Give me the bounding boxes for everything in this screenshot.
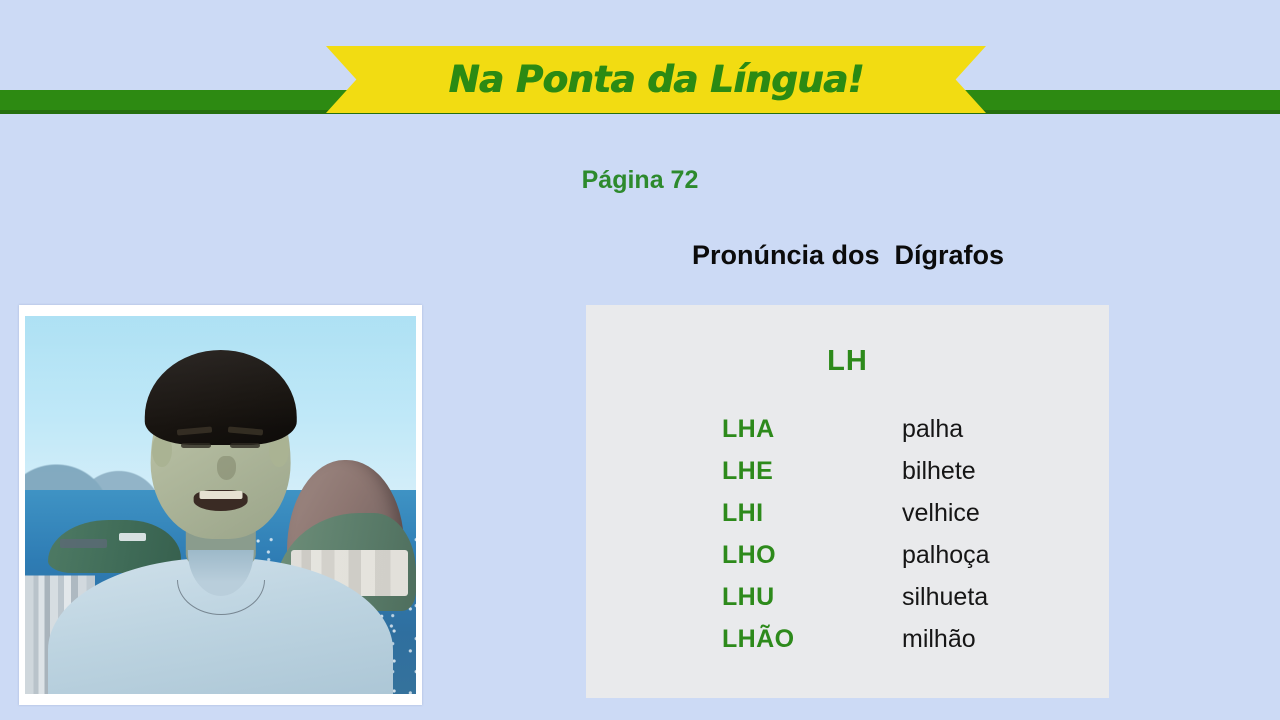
table-row: LHE bilhete — [722, 457, 1082, 499]
table-row: LHI velhice — [722, 499, 1082, 541]
example-cell: silhueta — [902, 583, 988, 612]
content-panel: LH LHA palha LHE bilhete LHI velhice LHO… — [586, 305, 1109, 698]
presenter-eye-left — [181, 443, 210, 448]
video-feed[interactable] — [25, 316, 416, 694]
presenter-eye-right — [230, 443, 259, 448]
presenter-hair — [144, 350, 296, 445]
example-cell: milhão — [902, 625, 976, 654]
table-row: LHO palhoça — [722, 541, 1082, 583]
table-row: LHÃO milhão — [722, 625, 1082, 667]
digraph-cell: LHE — [722, 457, 902, 486]
page-title: Na Ponta da Língua! — [326, 46, 986, 113]
section-heading: Pronúncia dos Dígrafos — [586, 240, 1110, 271]
digraph-cell: LHA — [722, 415, 902, 444]
example-cell: palha — [902, 415, 963, 444]
example-cell: bilhete — [902, 457, 976, 486]
example-cell: palhoça — [902, 541, 990, 570]
slide-root: Na Ponta da Língua! Página 72 Pronúncia … — [0, 0, 1280, 720]
example-cell: velhice — [902, 499, 980, 528]
video-frame[interactable] — [19, 305, 422, 705]
digraph-cell: LHI — [722, 499, 902, 528]
presenter — [25, 316, 416, 694]
digraph-cell: LHO — [722, 541, 902, 570]
table-row: LHA palha — [722, 415, 1082, 457]
digraph-group-heading: LH — [586, 345, 1109, 378]
page-number-label: Página 72 — [0, 166, 1280, 195]
presenter-teeth — [199, 491, 242, 499]
digraph-cell: LHÃO — [722, 625, 902, 654]
digraph-cell: LHU — [722, 583, 902, 612]
digraph-table: LHA palha LHE bilhete LHI velhice LHO pa… — [722, 415, 1082, 667]
table-row: LHU silhueta — [722, 583, 1082, 625]
